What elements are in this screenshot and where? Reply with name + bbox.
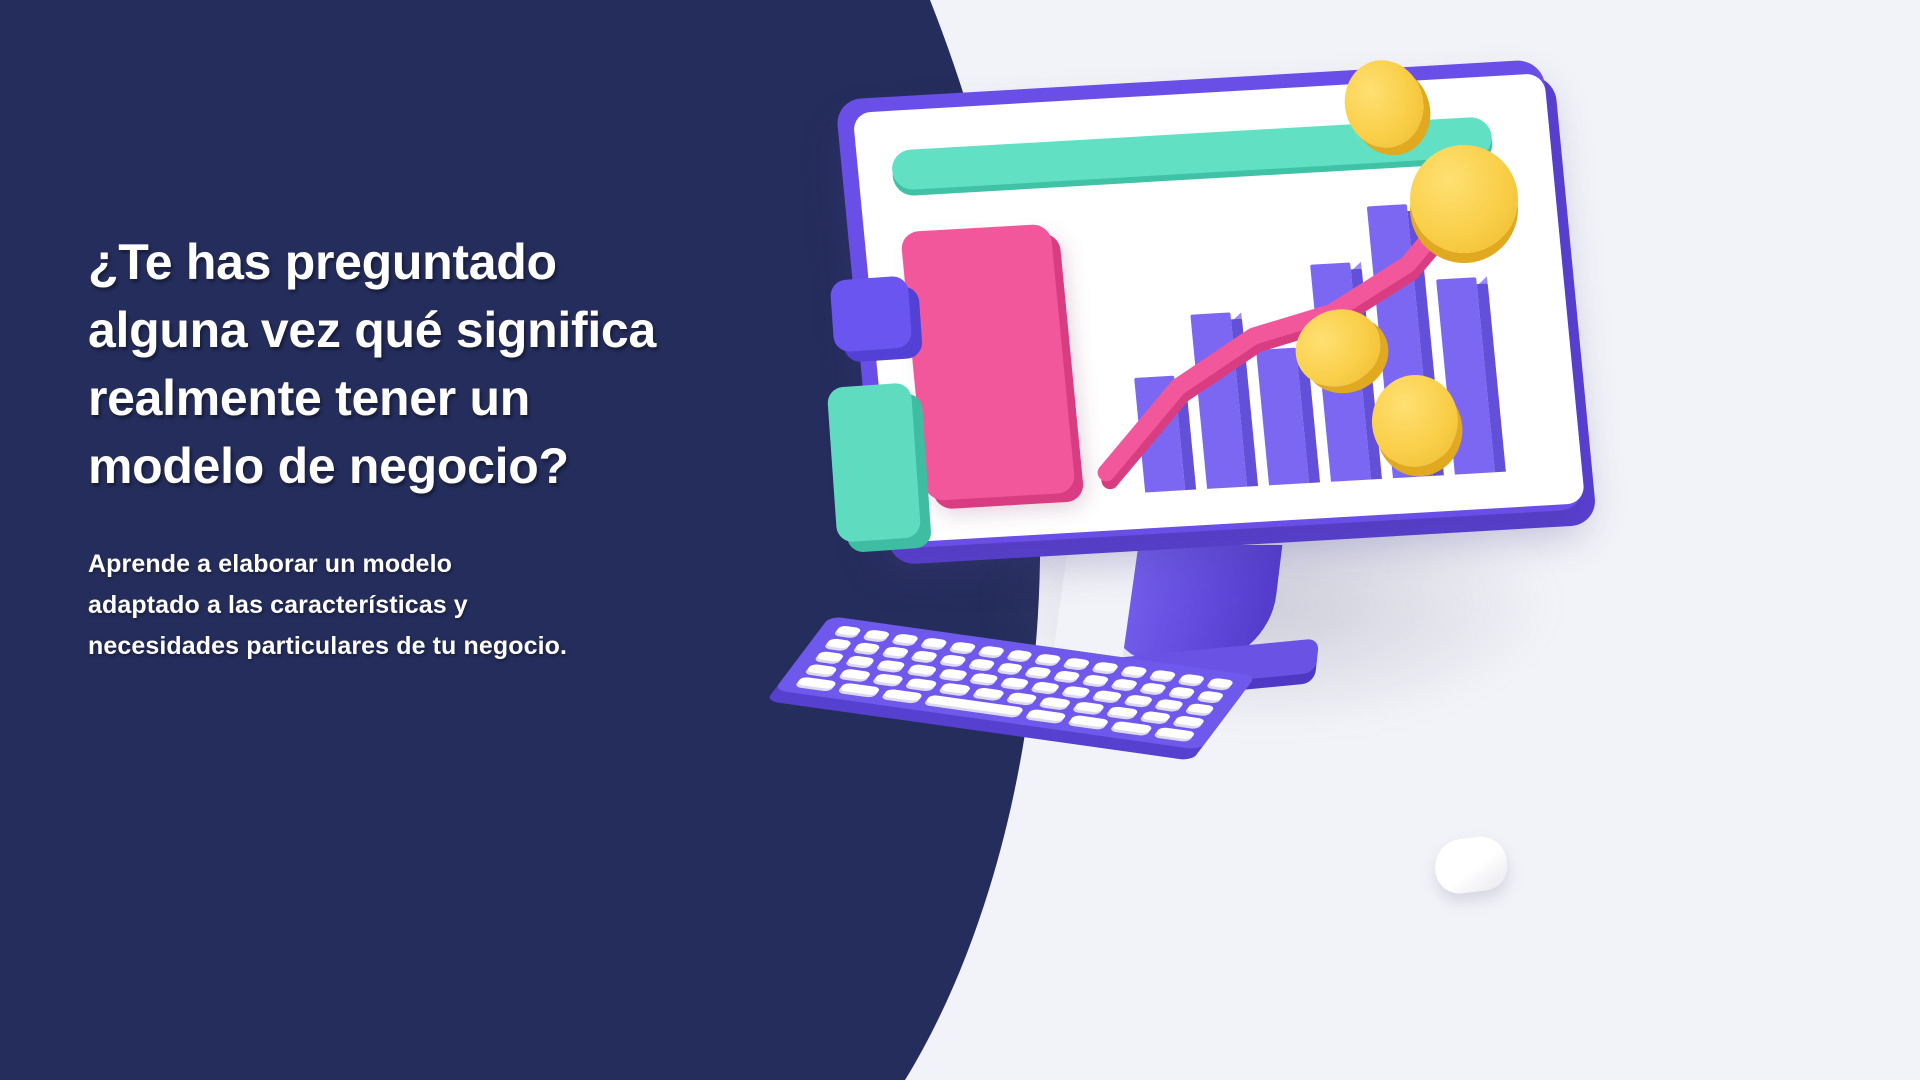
keyboard-key <box>1025 666 1053 677</box>
page-title: ¿Te has preguntado alguna vez qué signif… <box>88 228 728 500</box>
keyboard-key <box>1186 703 1216 714</box>
monitor <box>826 50 1613 590</box>
floating-tile-teal <box>827 382 922 542</box>
keyboard-key <box>906 678 938 690</box>
keyboard-key <box>939 682 971 694</box>
keyboard-key <box>1154 727 1196 740</box>
keyboard-key <box>1040 697 1072 709</box>
keyboard-key <box>1121 665 1149 676</box>
keyboard-key <box>892 633 920 644</box>
keyboard-key <box>970 673 1000 684</box>
keyboard-key <box>863 629 891 640</box>
coin-icon <box>1410 145 1518 253</box>
keyboard-key <box>1073 701 1105 713</box>
keyboard-key <box>1083 674 1111 685</box>
keyboard-key <box>839 683 881 696</box>
keyboard-key <box>1006 692 1038 704</box>
headline-line-2: alguna vez qué significa <box>88 296 728 364</box>
keyboard-key <box>1068 715 1110 728</box>
page-subtitle: Aprende a elaborar un modelo adaptado a … <box>88 544 728 667</box>
keyboard-key <box>839 668 871 680</box>
keyboard-key <box>796 677 838 690</box>
keyboard-key <box>1140 682 1168 693</box>
keyboard-key <box>1155 699 1185 710</box>
keyboard-key <box>973 687 1005 699</box>
illustration-3d-computer <box>760 0 1920 1080</box>
keyboard-key <box>825 638 853 649</box>
keyboard-key <box>1197 690 1225 701</box>
keyboard-key <box>997 662 1025 673</box>
floating-tile-purple <box>830 275 913 352</box>
headline-line-4: modelo de negocio? <box>88 432 728 500</box>
keyboard-key <box>815 651 845 662</box>
coin-icon <box>1369 372 1461 470</box>
keyboard-key <box>854 642 882 653</box>
keyboard-key <box>1178 674 1206 685</box>
keyboard-key <box>1054 670 1082 681</box>
keyboard-key <box>846 655 876 666</box>
keyboard-key <box>1140 711 1172 723</box>
keyboard-key <box>1150 670 1178 681</box>
keyboard-key <box>1207 678 1235 689</box>
poster-canvas: ¿Te has preguntado alguna vez qué signif… <box>0 0 1920 1080</box>
subtitle-line-1: Aprende a elaborar un modelo <box>88 544 728 585</box>
monitor-bezel <box>835 59 1586 550</box>
keyboard-key <box>873 673 905 685</box>
keyboard-key <box>1064 657 1092 668</box>
subtitle-line-3: necesidades particulares de tu negocio. <box>88 626 728 667</box>
text-column: ¿Te has preguntado alguna vez qué signif… <box>88 228 728 667</box>
keyboard-key <box>1006 649 1034 660</box>
keyboard-key <box>1173 715 1205 727</box>
keyboard-key <box>1000 677 1030 688</box>
keyboard-key <box>1169 686 1197 697</box>
keyboard-key <box>939 668 969 679</box>
monitor-screen <box>852 73 1585 543</box>
keyboard-key <box>911 650 939 661</box>
keyboard-key <box>1093 690 1123 701</box>
keyboard-key <box>908 664 938 675</box>
keyboard-key <box>1092 661 1120 672</box>
keyboard-key <box>1025 709 1067 722</box>
keyboard-key <box>882 646 910 657</box>
keyboard-key <box>882 689 924 702</box>
keyboard-key <box>968 658 996 669</box>
subtitle-line-2: adaptado a las características y <box>88 585 728 626</box>
screen-side-panel <box>900 224 1076 501</box>
keyboard-key <box>1106 706 1138 718</box>
keyboard-key <box>806 664 838 676</box>
keyboard-key <box>949 641 977 652</box>
keyboard-key <box>940 654 968 665</box>
headline-line-3: realmente tener un <box>88 364 728 432</box>
keyboard-key <box>1111 721 1153 734</box>
keyboard-key <box>877 660 907 671</box>
keyboard-key <box>1031 681 1061 692</box>
keyboard-key <box>835 625 863 636</box>
keyboard-key <box>1111 678 1139 689</box>
keyboard-key <box>921 637 949 648</box>
headline-line-1: ¿Te has preguntado <box>88 228 728 296</box>
keyboard-key <box>1124 694 1154 705</box>
keyboard-key <box>1035 653 1063 664</box>
keyboard-key <box>978 645 1006 656</box>
mouse <box>1432 834 1510 896</box>
keyboard-key <box>1062 686 1092 697</box>
